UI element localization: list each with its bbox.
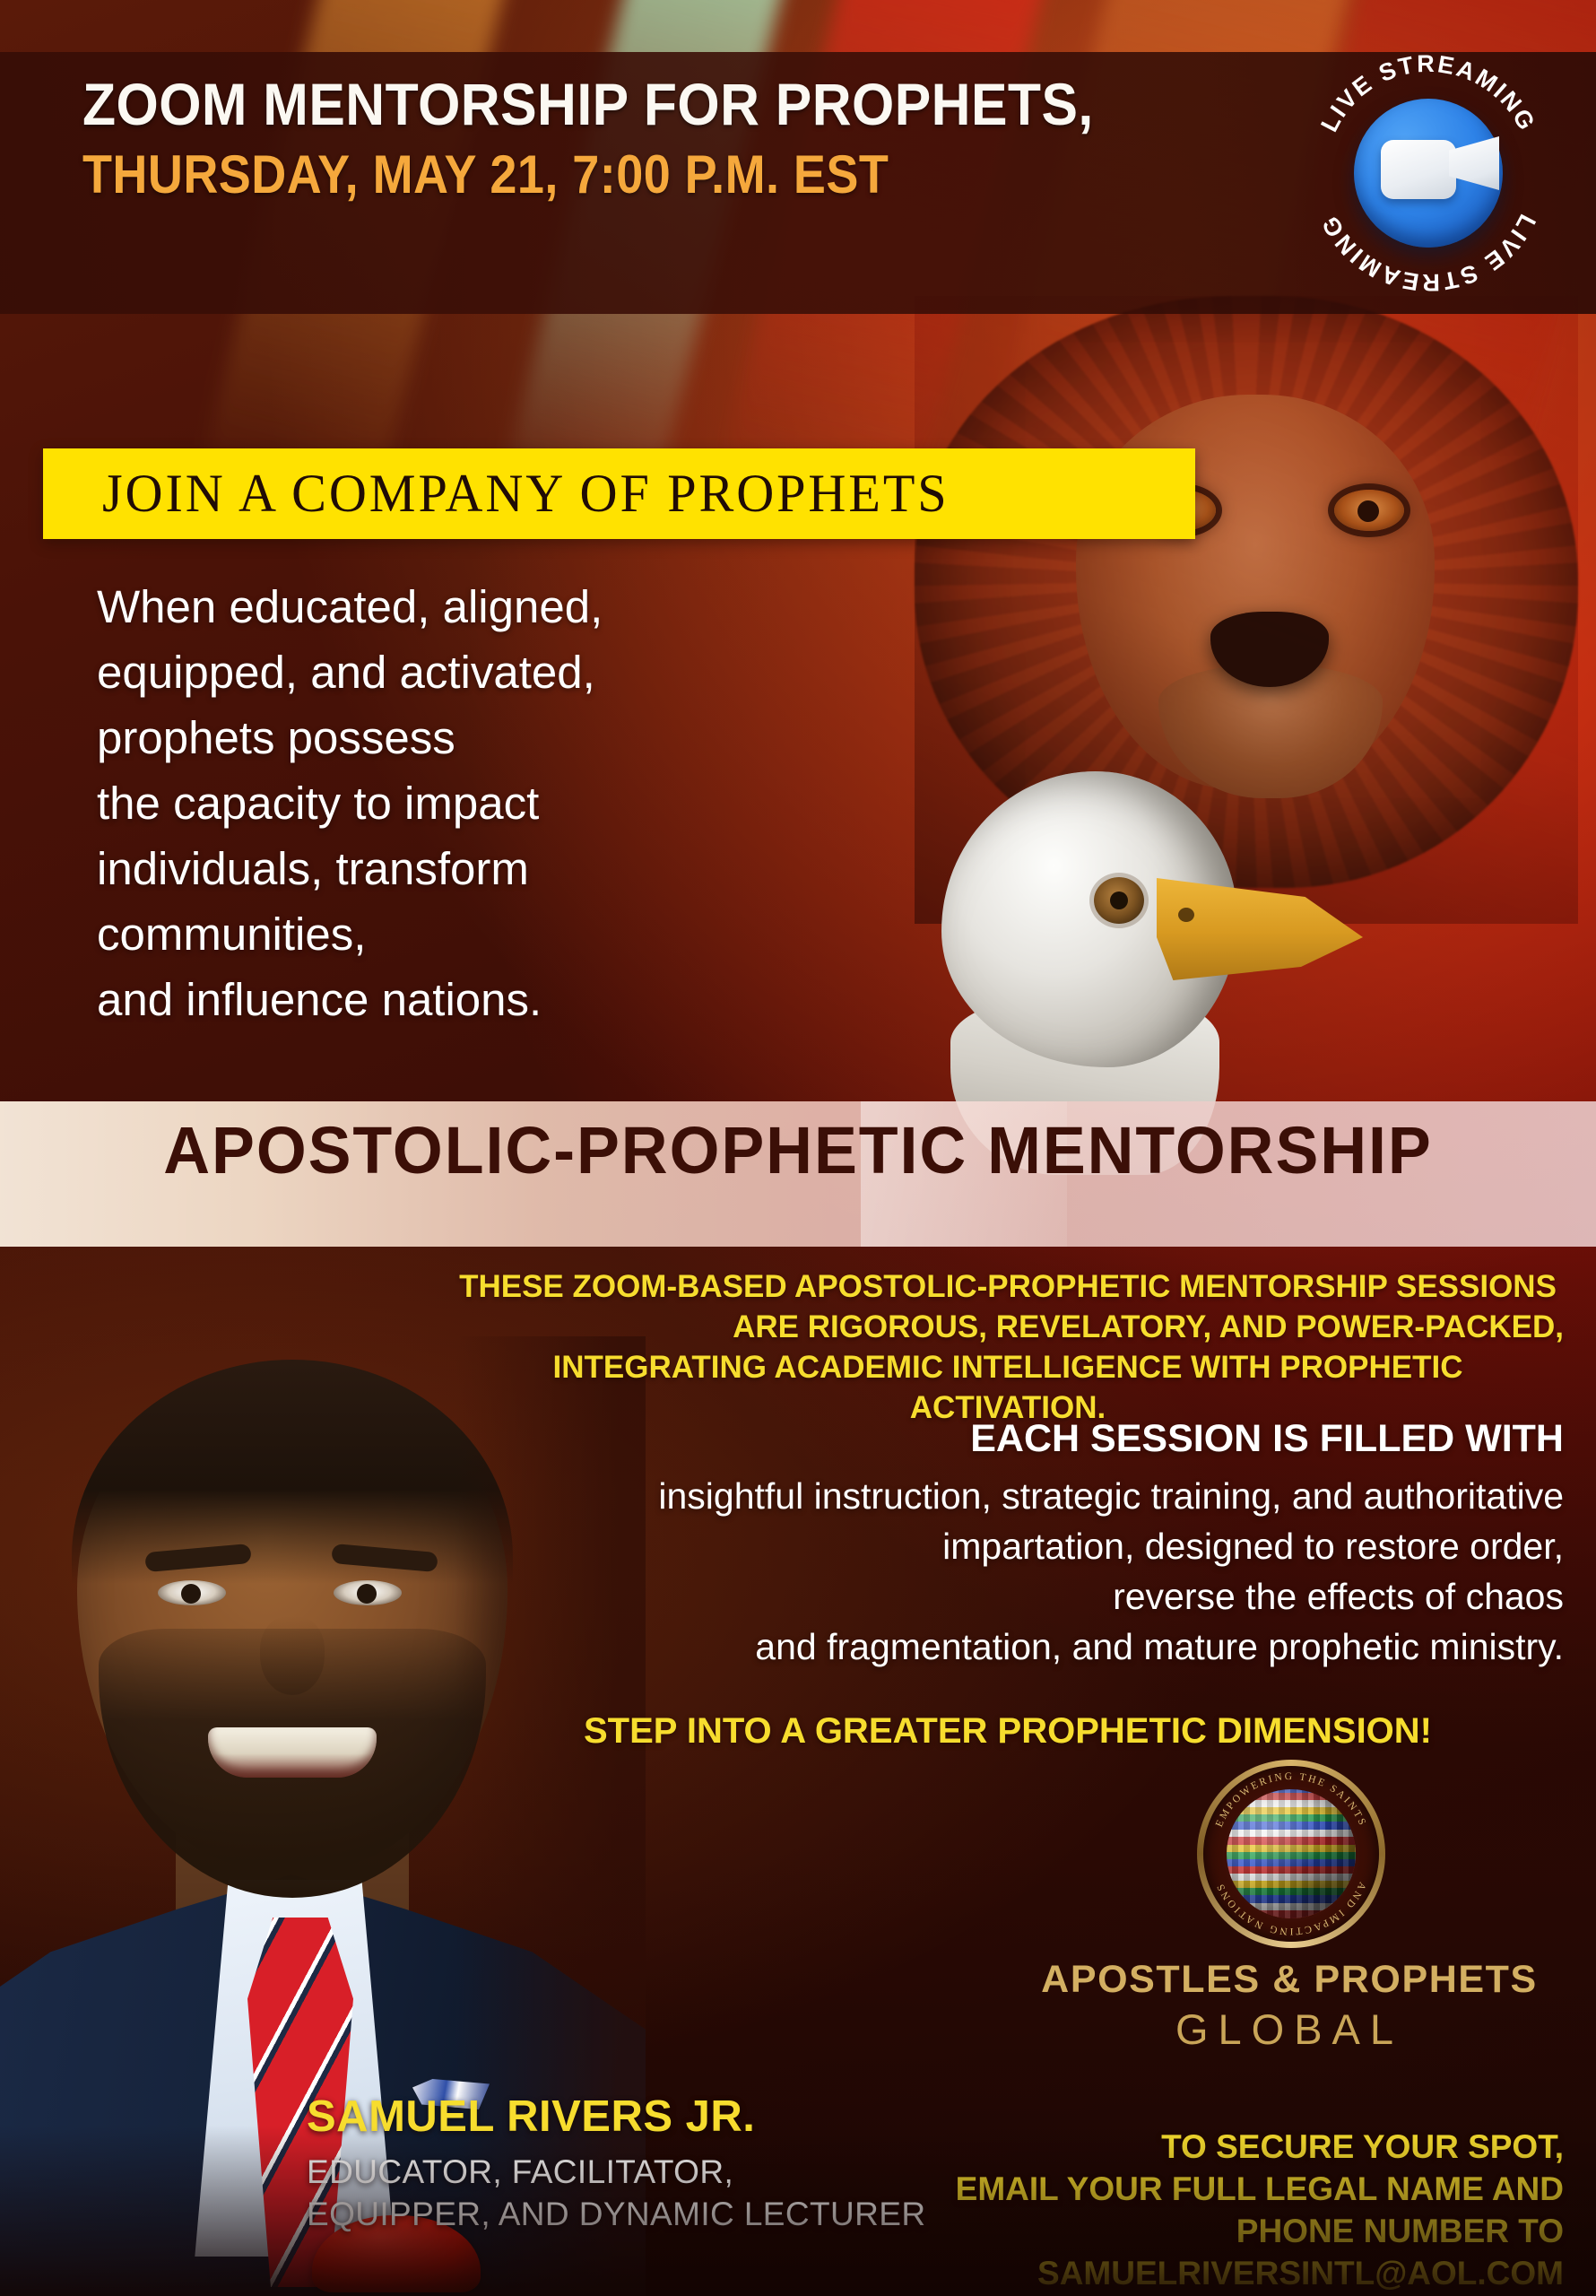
contact-line: TO SECURE YOUR SPOT, [452,2126,1564,2168]
event-datetime: THURSDAY, MAY 21, 7:00 P.M. EST [82,143,889,205]
organization-logo: EMPOWERING THE SAINTS AND IMPACTING NATI… [1197,1760,1385,1948]
intro-line: the capacity to impact [97,770,850,836]
flyer-poster: ZOOM MENTORSHIP FOR PROPHETS, THURSDAY, … [0,0,1596,2296]
page-title: ZOOM MENTORSHIP FOR PROPHETS, [82,70,1094,138]
video-camera-icon [1381,140,1456,199]
join-company-banner-label: JOIN A COMPANY OF PROPHETS [43,463,950,525]
organization-name: APOSTLES & PROPHETS GLOBAL [1002,1961,1576,2050]
intro-line: When educated, aligned, [97,574,850,639]
svg-text:EMPOWERING THE SAINTS: EMPOWERING THE SAINTS [1214,1771,1368,1829]
session-details-line: impartation, designed to restore order, [452,1521,1564,1571]
sessions-description: THESE ZOOM-BASED APOSTOLIC-PROPHETIC MEN… [452,1266,1564,1428]
live-streaming-badge: LIVE STREAMING LIVE STREAMING [1298,43,1558,303]
logo-arc-top-text: EMPOWERING THE SAINTS [1214,1771,1368,1829]
section-title: APOSTOLIC-PROPHETIC MENTORSHIP [24,1112,1573,1188]
intro-line: communities, [97,901,850,967]
intro-line: and influence nations. [97,967,850,1032]
session-details-line: insightful instruction, strategic traini… [452,1471,1564,1521]
intro-line: equipped, and activated, [97,639,850,705]
intro-paragraph: When educated, aligned, equipped, and ac… [97,574,850,1032]
contact-info: TO SECURE YOUR SPOT, EMAIL YOUR FULL LEG… [452,2126,1564,2294]
eagle-image [932,735,1363,1148]
session-details-line: and fragmentation, and mature prophetic … [452,1622,1564,1672]
intro-line: individuals, transform [97,836,850,901]
sessions-description-line: THESE ZOOM-BASED APOSTOLIC-PROPHETIC MEN… [452,1266,1564,1307]
session-details-line: reverse the effects of chaos [452,1571,1564,1622]
intro-line: prophets possess [97,705,850,770]
svg-text:AND IMPACTING NATIONS: AND IMPACTING NATIONS [1215,1880,1368,1936]
session-details: insightful instruction, strategic traini… [452,1471,1564,1672]
session-heading: EACH SESSION IS FILLED WITH [452,1415,1564,1462]
organization-name-line2: GLOBAL [1002,2008,1576,2050]
contact-email[interactable]: SAMUELRIVERSINTL@AOL.COM [452,2252,1564,2294]
logo-arc-text: EMPOWERING THE SAINTS AND IMPACTING NATI… [1197,1760,1385,1948]
sessions-description-line: ARE RIGOROUS, REVELATORY, AND POWER-PACK… [452,1307,1564,1347]
organization-name-line1: APOSTLES & PROPHETS [1002,1961,1576,1999]
logo-arc-bottom-text: AND IMPACTING NATIONS [1215,1880,1368,1936]
call-to-action: STEP INTO A GREATER PROPHETIC DIMENSION! [452,1709,1564,1753]
contact-line: EMAIL YOUR FULL LEGAL NAME AND [452,2168,1564,2210]
contact-line: PHONE NUMBER TO [452,2210,1564,2252]
join-company-banner: JOIN A COMPANY OF PROPHETS [43,448,1195,539]
